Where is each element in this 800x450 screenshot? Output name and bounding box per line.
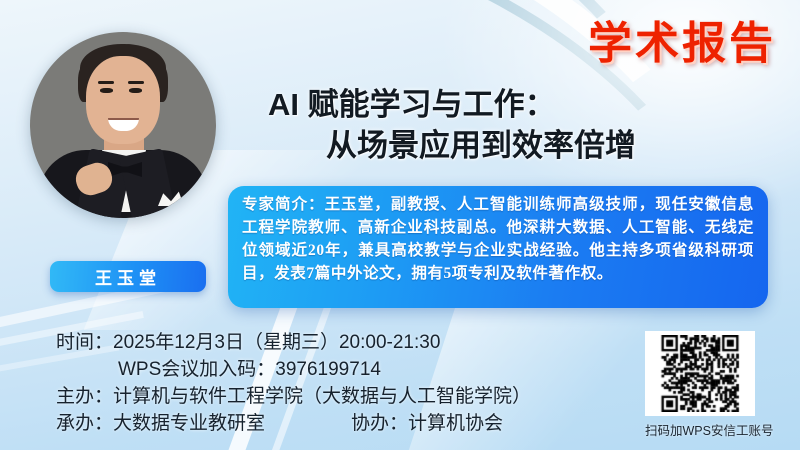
info-row-host: 主办：计算机与软件工程学院（大数据与人工智能学院） [56,384,616,411]
qr-code-caption: 扫码加WPS安信工账号 [645,420,755,439]
poster-headline: 学术报告 [588,22,776,66]
time-label: 时间： [56,332,113,353]
speaker-bio-text: 专家简介：王玉堂，副教授、人工智能训练师高级技师，现任安徽信息工程学院教师、高新… [242,193,754,285]
title-line-2: 从场景应用到效率倍增 [268,125,788,166]
info-row-time: 时间：2025年12月3日（星期三）20:00-21:30 [56,330,616,357]
info-row-organizer: 承办：大数据专业教研室协办：计算机协会 [56,411,616,438]
seminar-poster: 学术报告 AI 赋能学习与工作： 从场景应用到效率倍增 王玉堂 专家简介：王玉堂… [0,0,800,450]
title-line-1: AI 赋能学习与工作： [268,84,788,125]
qr-code-icon[interactable] [645,331,755,416]
speaker-portrait-photo [30,32,216,218]
meeting-code-label: WPS会议加入码： [118,359,275,380]
info-row-meeting-code: WPS会议加入码：3976199714 [56,357,616,384]
organizer-value: 大数据专业教研室 [113,413,265,434]
organizer-label: 承办： [56,413,113,434]
coorganizer-label: 协办： [351,413,408,434]
event-info-block: 时间：2025年12月3日（星期三）20:00-21:30 WPS会议加入码：3… [56,330,616,438]
time-value: 2025年12月3日（星期三）20:00-21:30 [113,332,440,353]
speaker-name-badge: 王玉堂 [50,261,206,292]
meeting-code-value: 3976199714 [275,359,381,380]
host-label: 主办： [56,386,113,407]
host-value: 计算机与软件工程学院（大数据与人工智能学院） [113,386,531,407]
qr-code-block: 扫码加WPS安信工账号 [645,331,755,439]
speaker-bio-panel: 专家简介：王玉堂，副教授、人工智能训练师高级技师，现任安徽信息工程学院教师、高新… [228,186,768,308]
page-title: AI 赋能学习与工作： 从场景应用到效率倍增 [268,84,788,166]
coorganizer-value: 计算机协会 [408,413,503,434]
